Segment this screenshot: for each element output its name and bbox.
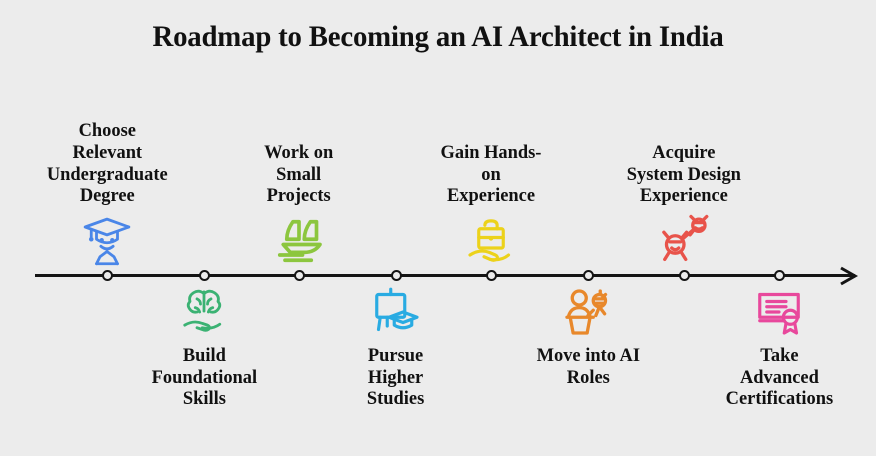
certificate-ribbon-icon <box>749 284 809 340</box>
milestone-label-1: Choose Relevant Undergraduate Degree <box>47 120 168 207</box>
milestone-label-6: Move into AI Roles <box>536 345 639 388</box>
milestone-7[interactable]: Acquire System Design Experience <box>594 142 774 269</box>
milestone-label-8: Take Advanced Certifications <box>725 345 832 410</box>
milestone-3[interactable]: Work on Small Projects <box>209 142 389 269</box>
milestone-label-5: Gain Hands- on Experience <box>441 142 542 207</box>
infographic-canvas: Roadmap to Becoming an AI Architect in I… <box>0 0 876 456</box>
briefcase-in-hand-icon <box>461 213 521 269</box>
graduate-student-icon <box>77 213 137 269</box>
timeline-marker-7[interactable] <box>679 270 690 281</box>
milestone-label-2: Build Foundational Skills <box>151 345 257 410</box>
timeline-marker-3[interactable] <box>294 270 305 281</box>
timeline-marker-8[interactable] <box>774 270 785 281</box>
timeline-marker-6[interactable] <box>583 270 594 281</box>
timeline-marker-4[interactable] <box>391 270 402 281</box>
brain-in-hand-icon <box>174 284 234 340</box>
milestone-4[interactable]: Pursue Higher Studies <box>306 284 486 410</box>
milestone-8[interactable]: Take Advanced Certifications <box>689 284 869 410</box>
page-title: Roadmap to Becoming an AI Architect in I… <box>18 20 859 54</box>
timeline-marker-1[interactable] <box>102 270 113 281</box>
milestone-6[interactable]: Move into AI Roles <box>498 284 678 388</box>
milestone-label-4: Pursue Higher Studies <box>367 345 424 410</box>
timeline-line <box>35 274 855 277</box>
sailboat-icon <box>269 213 329 269</box>
milestone-2[interactable]: Build Foundational Skills <box>114 284 294 410</box>
milestone-1[interactable]: Choose Relevant Undergraduate Degree <box>17 120 197 269</box>
milestone-label-3: Work on Small Projects <box>264 142 333 207</box>
timeline-marker-5[interactable] <box>486 270 497 281</box>
milestone-label-7: Acquire System Design Experience <box>627 142 741 207</box>
person-podium-robot-icon <box>558 284 618 340</box>
network-nodes-icon <box>654 213 714 269</box>
timeline-marker-2[interactable] <box>199 270 210 281</box>
whiteboard-graduation-icon <box>366 284 426 340</box>
milestone-5[interactable]: Gain Hands- on Experience <box>401 142 581 269</box>
